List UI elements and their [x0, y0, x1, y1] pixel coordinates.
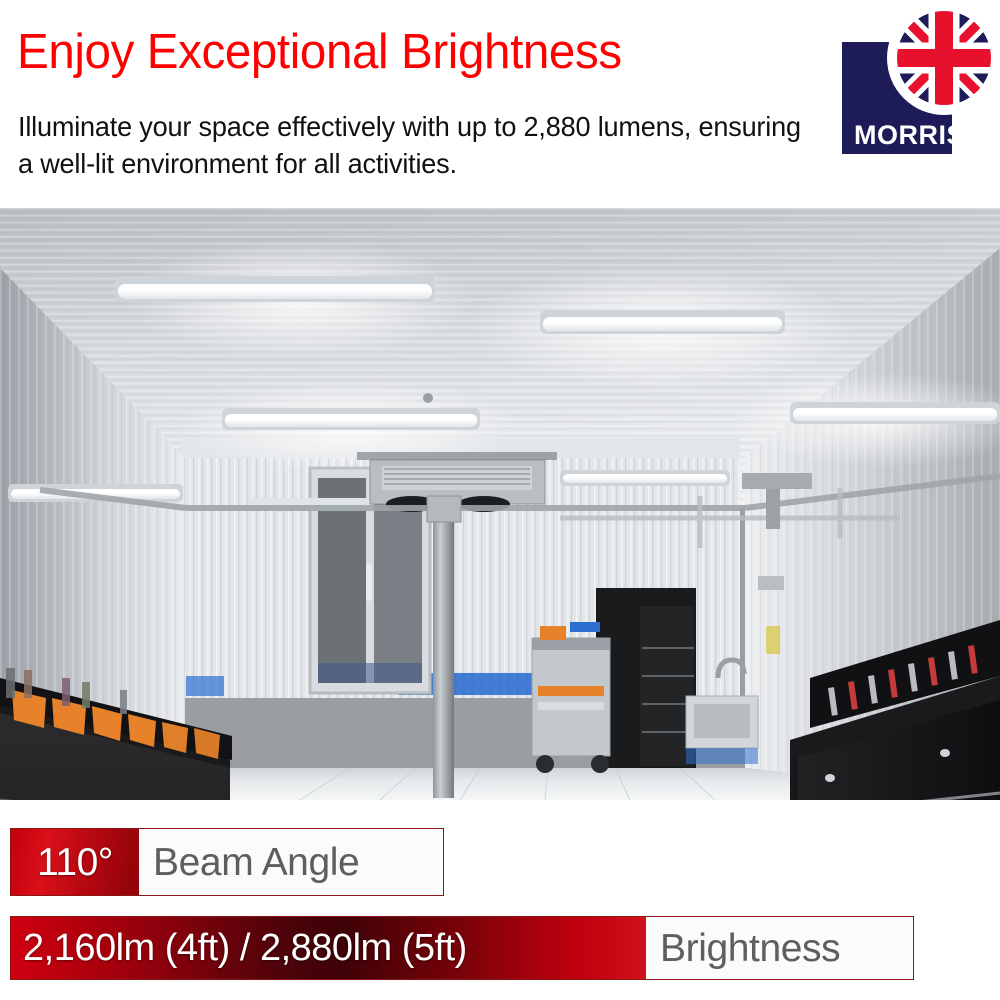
- product-feature-banner: Enjoy Exceptional Brightness Illuminate …: [0, 0, 1000, 1000]
- spec-row-beam-angle: 110° Beam Angle: [10, 828, 444, 896]
- morris-brand-logo: MORRIS: [834, 4, 994, 159]
- logo-wordmark: MORRIS: [854, 120, 965, 150]
- beam-angle-label: Beam Angle: [139, 829, 443, 895]
- subtitle-text: Illuminate your space effectively with u…: [18, 108, 806, 182]
- brightness-value: 2,160lm (4ft) / 2,880lm (5ft): [11, 917, 646, 979]
- utility-cart: [532, 622, 610, 773]
- led-tube-light: [560, 470, 730, 486]
- brightness-label: Brightness: [646, 917, 913, 979]
- rear-cabinets: [596, 588, 696, 768]
- beam-angle-value: 110°: [11, 829, 139, 895]
- header: Enjoy Exceptional Brightness Illuminate …: [0, 0, 1000, 205]
- led-tube-light: [465, 266, 855, 390]
- spec-row-brightness: 2,160lm (4ft) / 2,880lm (5ft) Brightness: [10, 916, 914, 980]
- page-title: Enjoy Exceptional Brightness: [17, 22, 622, 82]
- workshop-photo: [0, 208, 1000, 800]
